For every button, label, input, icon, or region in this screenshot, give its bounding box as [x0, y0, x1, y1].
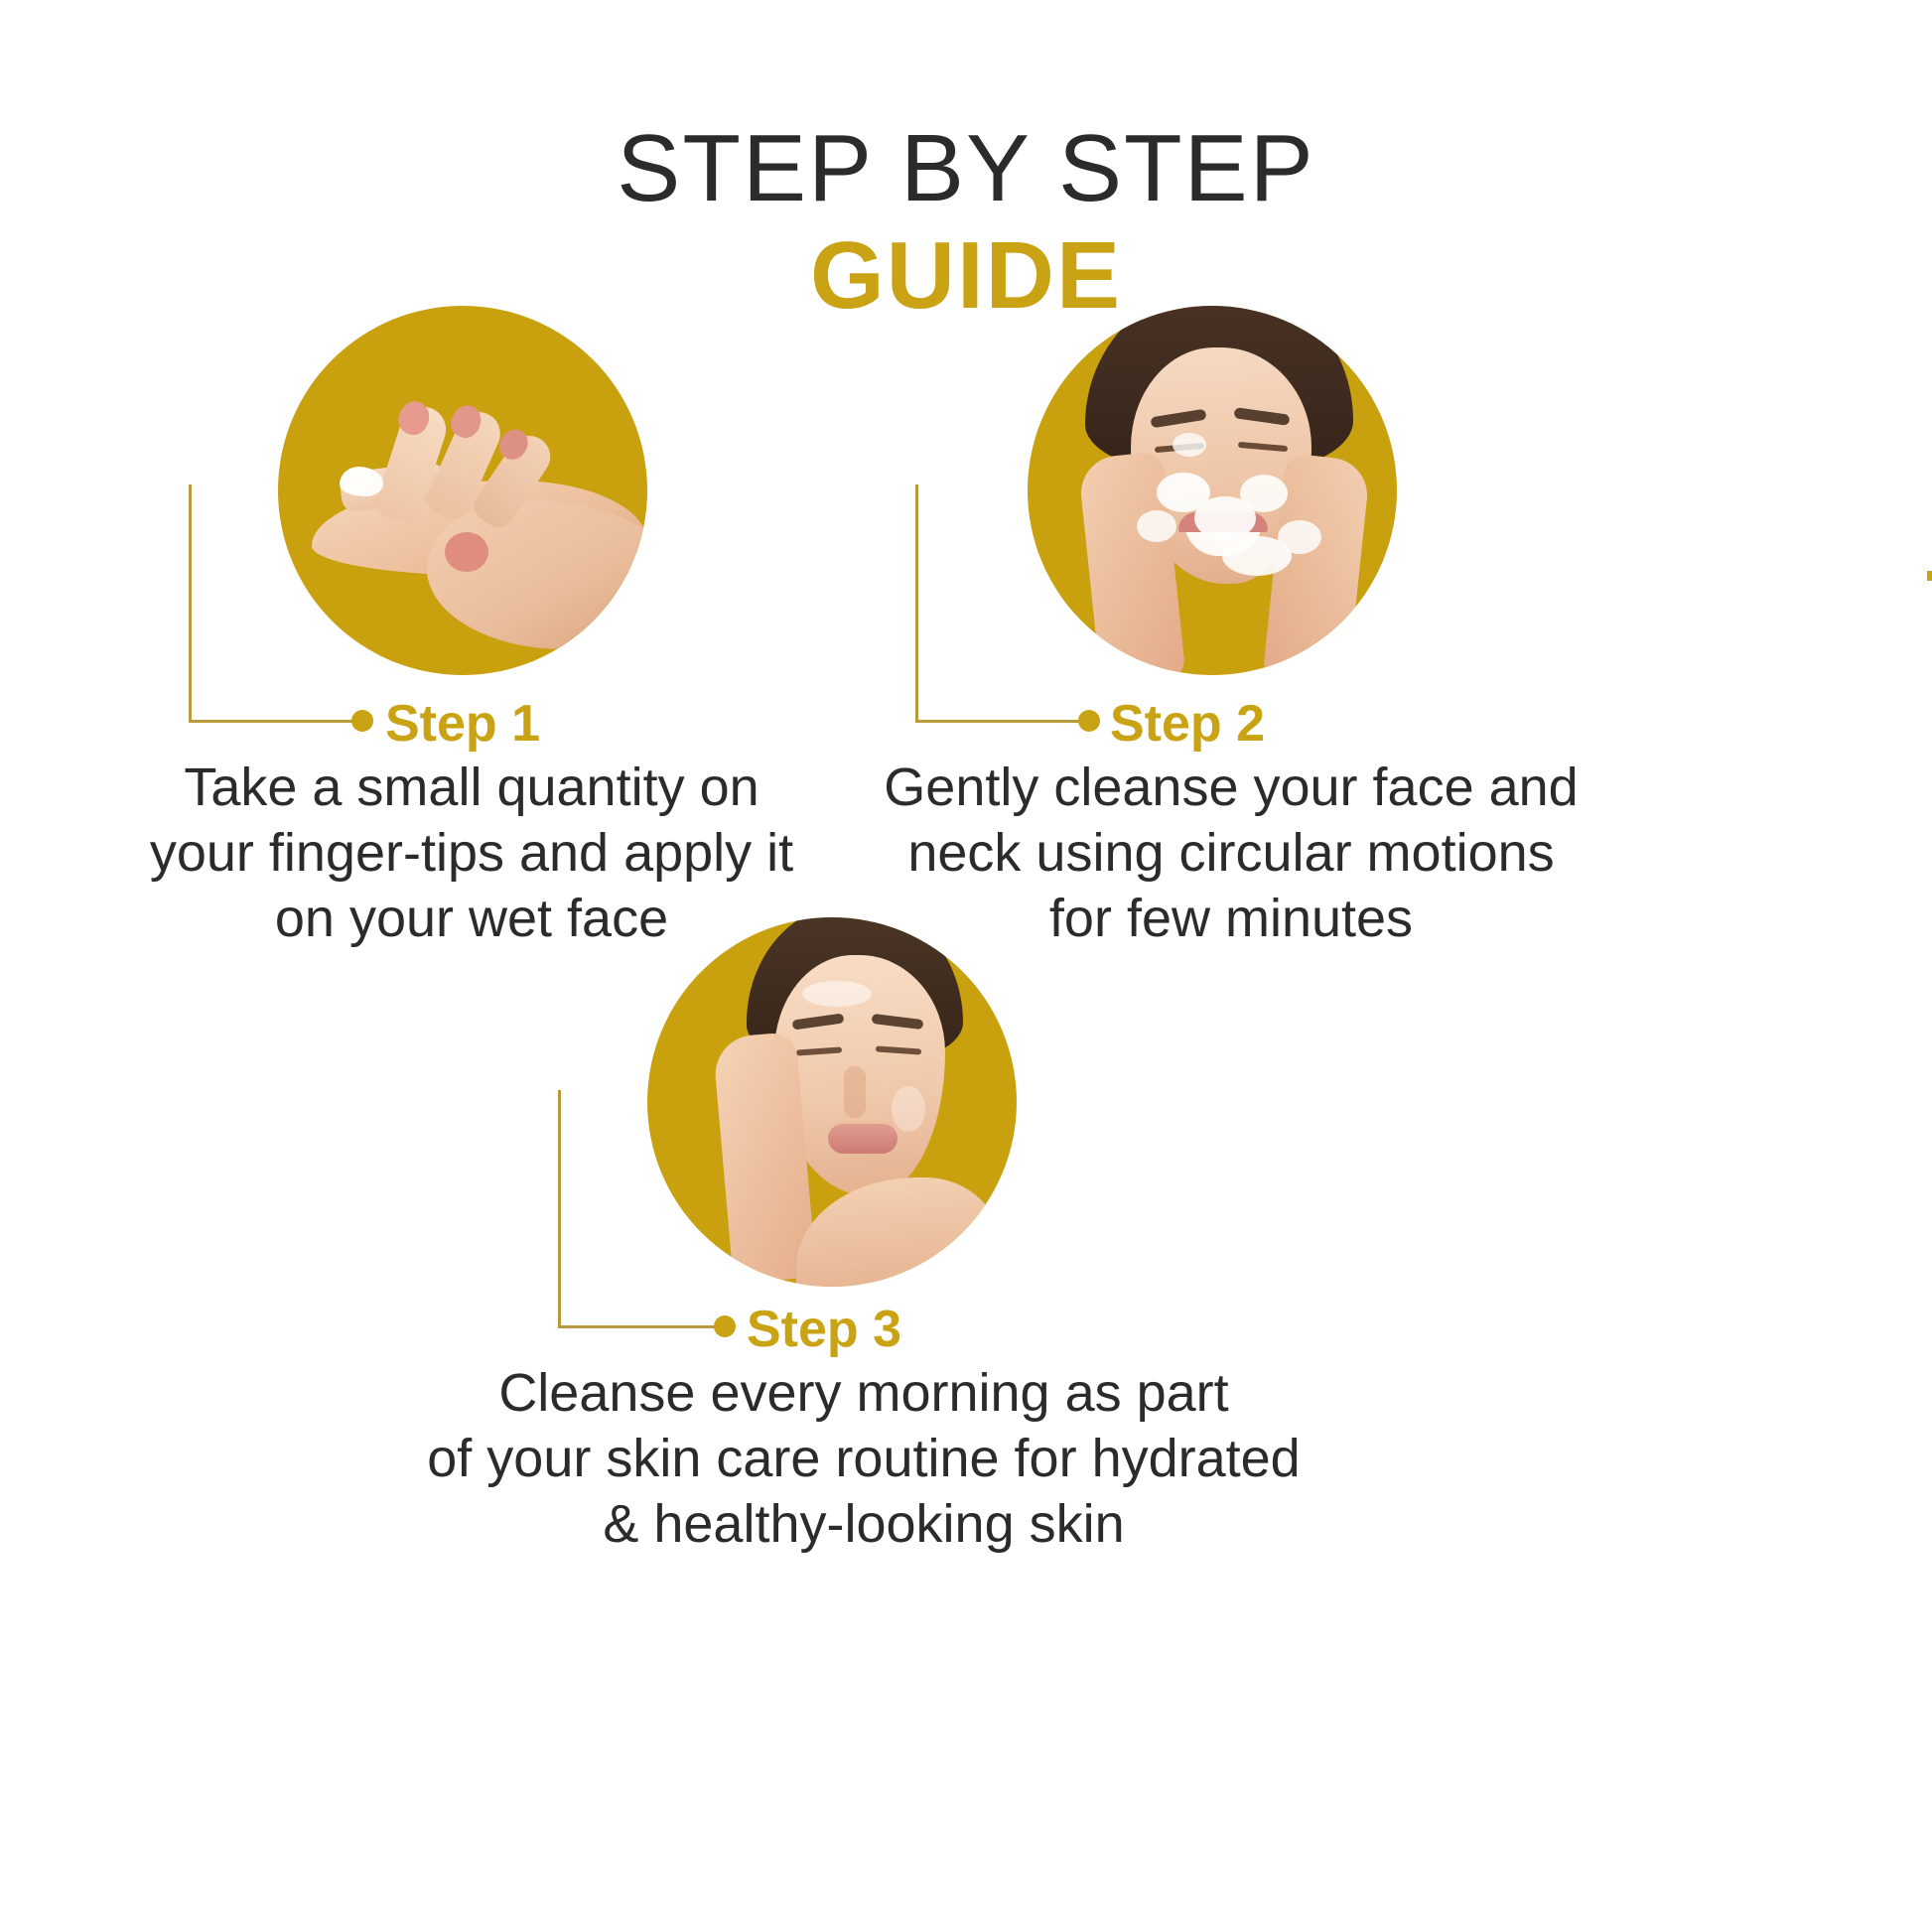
step-by-step-guide-page: STEP BY STEP GUIDE — [0, 0, 1932, 1932]
page-header: STEP BY STEP GUIDE — [0, 117, 1932, 332]
page-title-primary: STEP BY STEP — [0, 117, 1932, 220]
step-3-description: Cleanse every morning as part of your sk… — [328, 1360, 1400, 1557]
edge-decoration-mark — [1927, 571, 1932, 581]
step-1-label: Step 1 — [385, 695, 540, 753]
step-2-connector-bracket — [915, 484, 1089, 723]
step-2-label: Step 2 — [1110, 695, 1265, 753]
step-3-connector-bracket — [558, 1090, 725, 1328]
step-1-connector-bracket — [189, 484, 362, 723]
step-3-label: Step 3 — [747, 1301, 901, 1358]
